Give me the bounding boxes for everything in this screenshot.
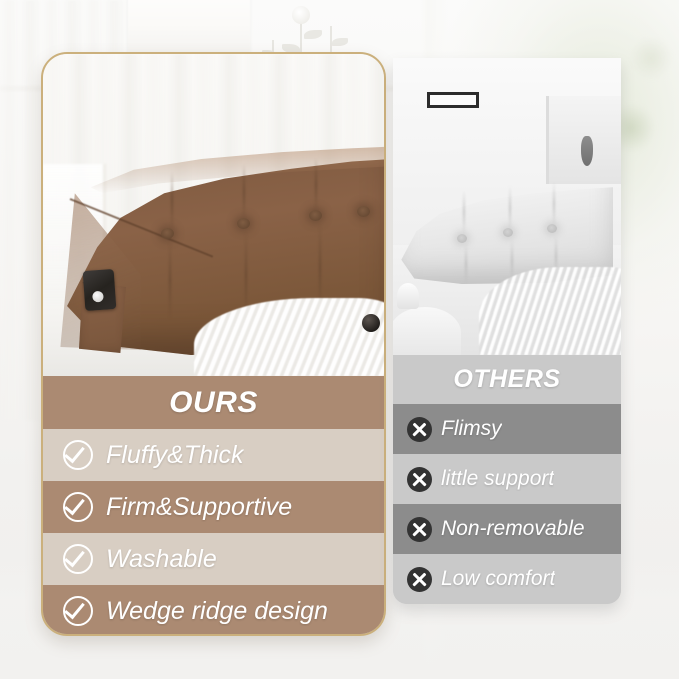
pillow-tuft-button [547, 224, 557, 233]
others-feature-row[interactable]: Flimsy [393, 404, 621, 454]
flower-leaf [304, 30, 322, 39]
pillow-crease [315, 158, 317, 212]
ours-panel: OURS Fluffy&Thick Firm&Supportive Washab… [41, 52, 386, 636]
ours-feature-list: OURS Fluffy&Thick Firm&Supportive Washab… [43, 376, 384, 636]
x-circle-icon [407, 517, 432, 542]
photo-bed-knob [362, 314, 380, 332]
check-circle-icon [63, 544, 93, 574]
pillow-tuft-button [457, 234, 467, 243]
pillow-crease [463, 190, 465, 234]
others-feature-label: Non-removable [441, 517, 585, 541]
ours-feature-row[interactable]: Washable [43, 533, 384, 585]
check-circle-icon [63, 492, 93, 522]
others-panel: OTHERS Flimsy little support Non-removab… [393, 58, 621, 604]
x-circle-icon [407, 417, 432, 442]
comparison-infographic: OURS Fluffy&Thick Firm&Supportive Washab… [0, 0, 679, 679]
pillow-crease [243, 164, 245, 220]
ours-feature-label: Washable [106, 545, 217, 574]
photo-wall-frame [427, 92, 479, 108]
others-feature-list: OTHERS Flimsy little support Non-removab… [393, 355, 621, 604]
phone-camera-icon [92, 291, 104, 303]
others-feature-row[interactable]: Low comfort [393, 554, 621, 604]
others-feature-label: Low comfort [441, 567, 555, 591]
pillow-crease [465, 244, 467, 284]
ours-feature-row[interactable]: Fluffy&Thick [43, 429, 384, 481]
others-feature-label: little support [441, 467, 554, 491]
photo-vase [581, 136, 593, 166]
photo-nightstand [393, 307, 461, 355]
ours-header: OURS [43, 376, 384, 429]
flower-bloom-icon [292, 6, 310, 24]
ours-product-photo [43, 54, 384, 376]
others-feature-row[interactable]: little support [393, 454, 621, 504]
ours-feature-label: Fluffy&Thick [106, 441, 244, 470]
x-circle-icon [407, 467, 432, 492]
check-circle-icon [63, 440, 93, 470]
pillow-crease [553, 182, 555, 226]
check-circle-icon [63, 596, 93, 626]
photo-small-lamp [397, 283, 419, 309]
others-header: OTHERS [393, 355, 621, 404]
ours-feature-row[interactable]: Firm&Supportive [43, 481, 384, 533]
ours-header-label: OURS [169, 386, 258, 420]
pillow-crease [171, 172, 173, 230]
x-circle-icon [407, 567, 432, 592]
phone-in-pocket [83, 269, 117, 311]
pillow-crease [509, 186, 511, 230]
others-feature-label: Flimsy [441, 417, 502, 441]
ours-feature-label: Wedge ridge design [106, 597, 328, 626]
others-header-label: OTHERS [453, 365, 560, 394]
pillow-tuft-button [357, 206, 370, 217]
ours-feature-label: Firm&Supportive [106, 493, 292, 522]
pillow-crease [169, 240, 171, 320]
ours-feature-row[interactable]: Wedge ridge design [43, 585, 384, 636]
flower-leaf [332, 38, 348, 46]
others-feature-row[interactable]: Non-removable [393, 504, 621, 554]
pillow-tuft-button [503, 228, 513, 237]
others-product-photo [393, 58, 621, 355]
